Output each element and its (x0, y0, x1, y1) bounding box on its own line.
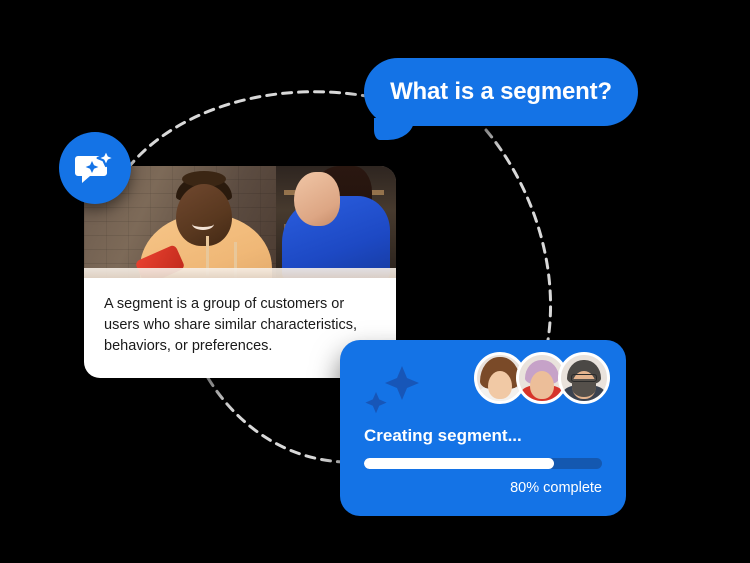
info-card-photo (84, 166, 396, 278)
progress-bar-fill (364, 458, 554, 469)
speech-bubble-text: What is a segment? (390, 78, 612, 106)
connector-card-to-bubble (128, 92, 366, 168)
speech-bubble: What is a segment? (364, 58, 638, 126)
avatar-face (530, 371, 554, 399)
avatar-person-3 (558, 352, 610, 404)
progress-label: 80% complete (510, 480, 602, 496)
speech-bubble-tail (374, 118, 414, 140)
connector-card-to-progress (208, 378, 344, 462)
avatar-face (488, 371, 512, 399)
photo-woman-head (294, 172, 340, 226)
chat-bubble-sparkle-icon (74, 148, 116, 188)
photo-table (84, 268, 396, 278)
avatar-group (474, 352, 610, 404)
chat-badge[interactable] (59, 132, 131, 204)
info-card-text: A segment is a group of customers or use… (104, 294, 376, 357)
progress-title: Creating segment... (364, 426, 522, 446)
connector-bubble-to-progress (486, 130, 551, 340)
illustration-canvas: What is a segment? A segment is a group … (0, 0, 750, 563)
photo-man-smile (192, 218, 214, 230)
progress-card: Creating segment... 80% complete (340, 340, 626, 516)
sparkle-stars-icon (364, 360, 424, 416)
photo-man-head (176, 184, 232, 246)
avatar-glasses-icon (571, 374, 597, 382)
progress-bar-track (364, 458, 602, 469)
